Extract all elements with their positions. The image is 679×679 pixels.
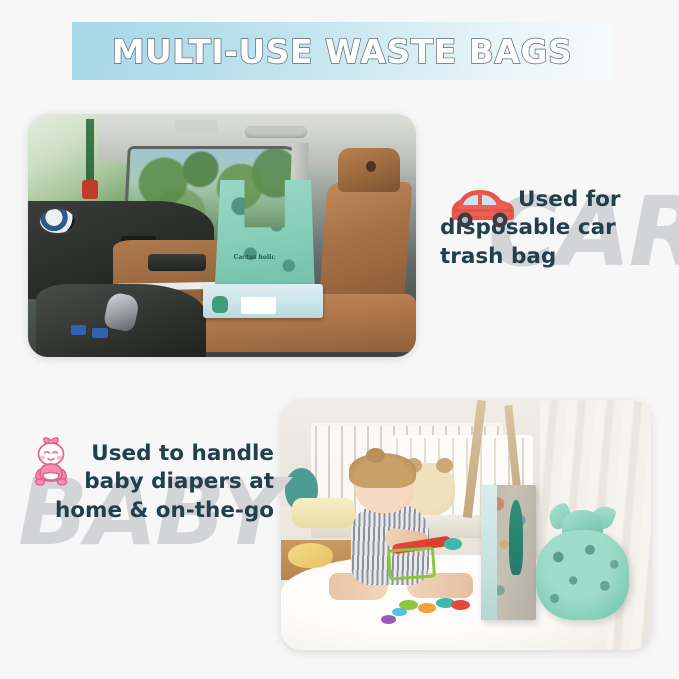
floor-toy-orange xyxy=(418,603,437,613)
toy-green-ring xyxy=(387,546,436,580)
baby-nursery-photo xyxy=(281,400,651,650)
dome-light xyxy=(175,120,218,133)
console-button-a xyxy=(71,325,87,335)
baby-icon xyxy=(28,436,74,493)
steering-wheel-emblem xyxy=(40,209,75,233)
grab-handle xyxy=(245,126,307,138)
feature-car: CAR Used for disposable car trash bag xyxy=(440,186,676,271)
floor-toy-blue xyxy=(392,608,407,617)
box-product-image xyxy=(241,297,276,314)
car-interior-scene: Cactus holic xyxy=(28,114,416,357)
floor-toy-purple xyxy=(381,615,396,624)
product-box-side-panel xyxy=(481,485,497,620)
product-box-cactus-graphic xyxy=(509,500,524,575)
feature-baby: BABY Used to handle baby diaper xyxy=(12,440,274,525)
headrest-button xyxy=(366,161,376,172)
plush-bear-ear-right xyxy=(436,458,453,473)
car-interior-photo: Cactus holic xyxy=(28,114,416,357)
console-button-b xyxy=(92,328,108,338)
feature-baby-line-3: home & on-the-go xyxy=(12,497,274,525)
floor-toy-red xyxy=(451,600,470,610)
toy-teal-knob xyxy=(444,538,463,551)
waste-bag-brand-label: Cactus holic xyxy=(234,255,276,262)
infographic-root: MULTI-USE WASTE BAGS xyxy=(0,0,679,679)
yellow-floor-cushion xyxy=(288,543,332,568)
door-handle xyxy=(148,254,206,271)
yellow-pillow xyxy=(292,498,355,528)
baby-hair-topknot xyxy=(366,448,385,463)
box-cactus-graphic xyxy=(212,296,228,313)
passenger-seat-back xyxy=(318,182,412,308)
baby-nursery-scene xyxy=(281,400,651,650)
car-icon xyxy=(444,186,518,237)
feature-car-line-3: trash bag xyxy=(440,243,676,271)
tied-waste-bag xyxy=(536,530,629,620)
page-title: MULTI-USE WASTE BAGS xyxy=(72,22,612,80)
